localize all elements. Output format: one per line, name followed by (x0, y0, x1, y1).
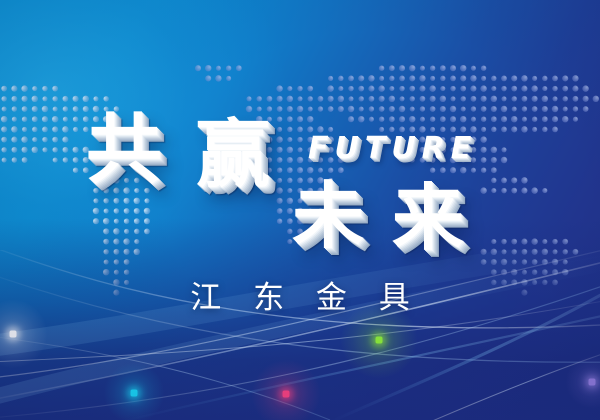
promo-banner: 共 赢 未 来 FUTURE 江 东 金 具 (0, 0, 600, 420)
headline-block: 共 赢 未 来 FUTURE 江 东 金 具 (0, 0, 600, 420)
headline-latin-future: FUTURE (308, 131, 477, 166)
headline-char-wei: 未 (292, 180, 364, 252)
headline-char-gong: 共 (86, 112, 162, 188)
headline-char-lai: 来 (392, 182, 464, 254)
headline-char-ying: 赢 (196, 118, 270, 192)
company-name: 江 东 金 具 (0, 272, 600, 317)
